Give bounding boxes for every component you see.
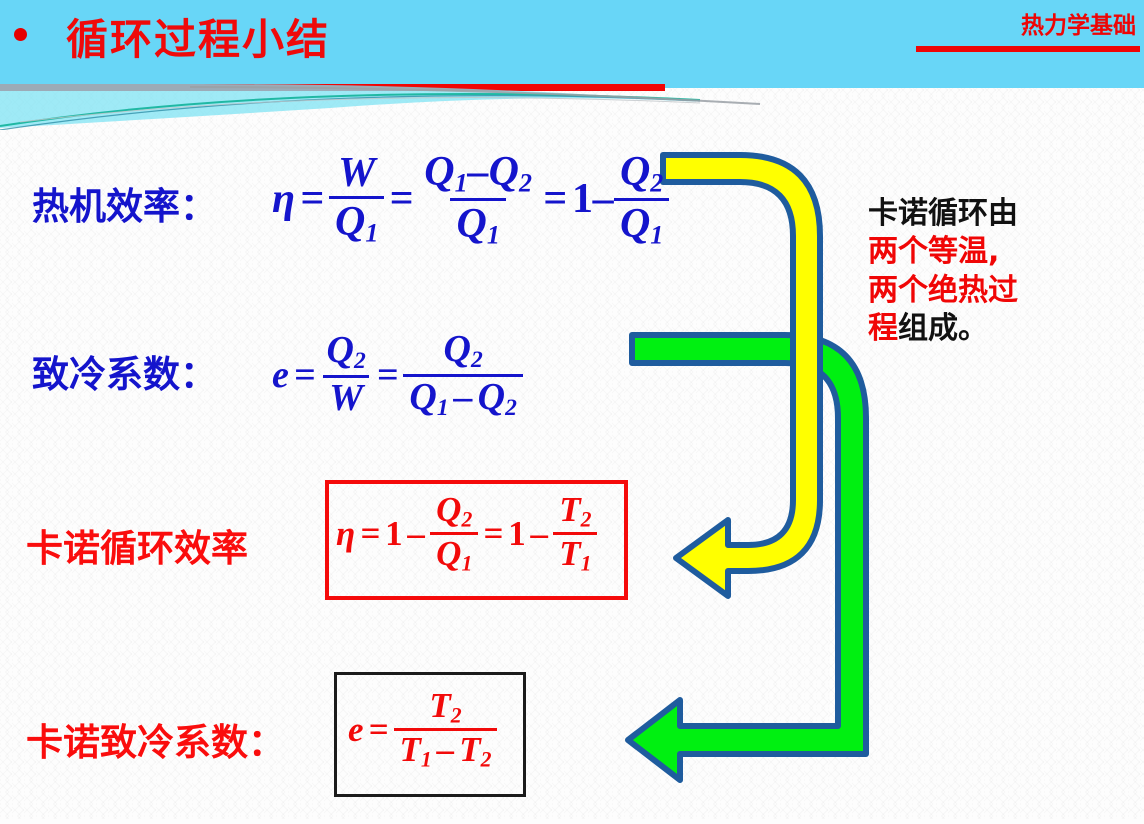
formula-carnot-efficiency: η = 1 – Q2 Q1 = 1 – T2 T1 (336, 492, 597, 575)
equals-1: = (355, 514, 385, 554)
equals-1: = (295, 175, 329, 223)
numerator-t2: T2 (423, 688, 467, 728)
equals-1: = (364, 710, 394, 750)
label-carnot-efficiency: 卡诺循环效率 (26, 518, 248, 572)
background-texture (0, 0, 1144, 819)
numerator-q2: Q2 (614, 150, 669, 198)
header-accent-bar (0, 84, 665, 91)
label-refrigeration-coefficient: 致冷系数： (32, 344, 217, 398)
minus-1: – (403, 514, 431, 554)
minus-sign: – (593, 175, 614, 223)
label-heat-engine-efficiency: 热机效率： (32, 176, 217, 230)
chapter-title: 热力学基础 (1021, 6, 1136, 40)
note-line-4-black: 组成。 (898, 311, 988, 346)
eta-symbol: η (336, 514, 355, 554)
equals-2: = (384, 175, 418, 223)
note-line-1: 卡诺循环由 (868, 195, 1136, 233)
equals-2: = (372, 353, 404, 397)
chapter-underline (916, 46, 1140, 52)
note-line-3: 两个绝热过 (868, 272, 1136, 310)
equals-3: = (538, 175, 572, 223)
denominator-w: W (323, 375, 369, 419)
bullet-dot-icon (14, 28, 27, 41)
yellow-arrow (663, 155, 820, 596)
note-line-2: 两个等温, (868, 233, 1136, 271)
fraction-w-over-q1: W Q1 (329, 151, 384, 247)
denominator-t1-minus-t2: T1–T2 (394, 728, 498, 771)
numerator-q2: Q2 (321, 331, 372, 375)
fraction-q2-over-q1: Q2 Q1 (430, 492, 478, 575)
denominator-q1-b: Q1 (450, 198, 505, 249)
fraction-t2-over-t1: T2 T1 (553, 492, 597, 575)
label-carnot-cop: 卡诺致冷系数： (26, 712, 285, 766)
minus-2: – (526, 514, 554, 554)
fraction-q2-over-q1: Q2 Q1 (614, 150, 669, 249)
one-literal: 1 (572, 175, 593, 223)
denominator-q1: Q1 (430, 532, 478, 575)
denominator-q1-c: Q1 (614, 198, 669, 249)
carnot-cycle-note: 卡诺循环由 两个等温, 两个绝热过 程组成。 (868, 195, 1136, 349)
denominator-q1-minus-q2: Q1–Q2 (403, 374, 522, 421)
eta-symbol: η (272, 175, 295, 223)
one-literal-2: 1 (508, 514, 526, 554)
numerator-t2: T2 (553, 492, 597, 532)
slide-header-bar: 循环过程小结 热力学基础 (0, 0, 1144, 88)
equals-2: = (478, 514, 508, 554)
formula-heat-engine-efficiency: η = W Q1 = Q1–Q2 Q1 = 1 – Q2 Q1 (272, 150, 669, 249)
note-line-4-red: 程 (868, 311, 898, 346)
fraction-t2-over-t1-minus-t2: T2 T1–T2 (394, 688, 498, 771)
fraction-q2-over-w: Q2 W (321, 331, 372, 419)
formula-refrigeration-coefficient: e = Q2 W = Q2 Q1–Q2 (272, 330, 523, 420)
e-symbol: e (348, 710, 364, 750)
one-literal-1: 1 (385, 514, 403, 554)
arrow-layer (0, 0, 1144, 819)
numerator-q2-b: Q2 (438, 330, 489, 374)
page-title: 循环过程小结 (66, 6, 330, 67)
numerator-q2: Q2 (430, 492, 478, 532)
equals-1: = (289, 353, 321, 397)
numerator-q1-minus-q2: Q1–Q2 (418, 150, 538, 198)
formula-carnot-cop: e = T2 T1–T2 (348, 688, 497, 771)
fraction-q1-minus-q2-over-q1: Q1–Q2 Q1 (418, 150, 538, 249)
denominator-q1: Q1 (329, 196, 384, 247)
numerator-w: W (332, 151, 381, 196)
fraction-q2-over-q1-minus-q2: Q2 Q1–Q2 (403, 330, 522, 420)
green-arrow (628, 335, 866, 780)
e-symbol: e (272, 353, 289, 397)
note-line-4: 程组成。 (868, 310, 1136, 348)
denominator-t1: T1 (553, 532, 597, 575)
